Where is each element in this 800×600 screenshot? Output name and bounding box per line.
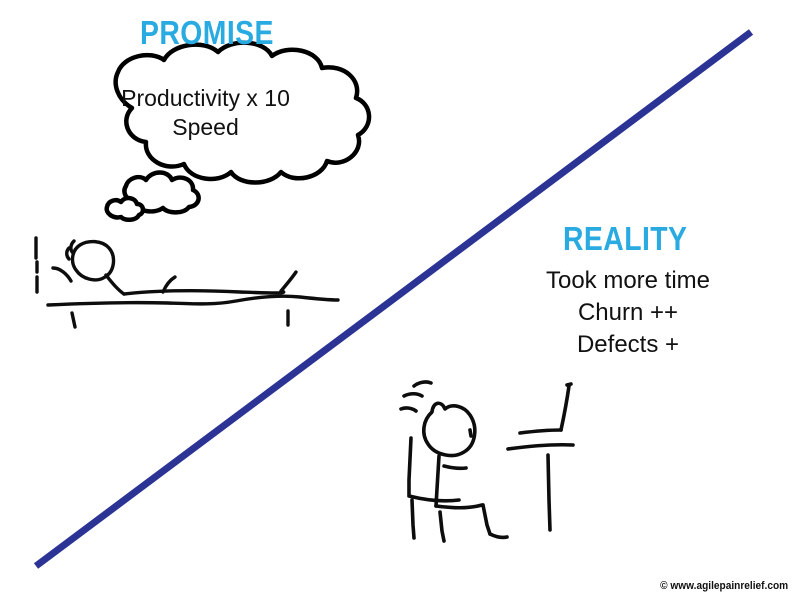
monitor-stand xyxy=(520,430,561,433)
monitor-screen xyxy=(561,386,569,430)
person-shin xyxy=(483,505,490,534)
chair-seat xyxy=(409,496,459,501)
reality-line-1: Took more time xyxy=(493,265,763,297)
reality-heading: REALITY xyxy=(563,222,687,255)
person-spine xyxy=(436,456,439,506)
desk-leg xyxy=(548,455,550,530)
person-back-leg xyxy=(440,512,444,541)
monitor-top-dot xyxy=(567,384,571,385)
footer-credit: © www.agilepainrelief.com xyxy=(660,580,788,592)
person-thigh xyxy=(436,505,482,508)
reality-line-2: Churn ++ xyxy=(493,297,763,329)
promise-heading: PROMISE xyxy=(140,16,274,49)
reality-line-3: Defects + xyxy=(493,329,763,361)
chair-back xyxy=(409,438,411,495)
person-head xyxy=(424,403,475,455)
stress-mark-1 xyxy=(414,382,431,386)
person-ear xyxy=(470,430,471,436)
stress-mark-3 xyxy=(401,408,416,411)
person-foot xyxy=(490,534,507,537)
desk-top xyxy=(508,445,573,449)
meme-canvas: Productivity x 10 Speed xyxy=(0,0,800,600)
person-arm xyxy=(444,466,466,468)
stress-mark-2 xyxy=(404,394,422,396)
chair-leg xyxy=(412,500,414,538)
reality-text-block: Took more time Churn ++ Defects + xyxy=(493,265,763,361)
